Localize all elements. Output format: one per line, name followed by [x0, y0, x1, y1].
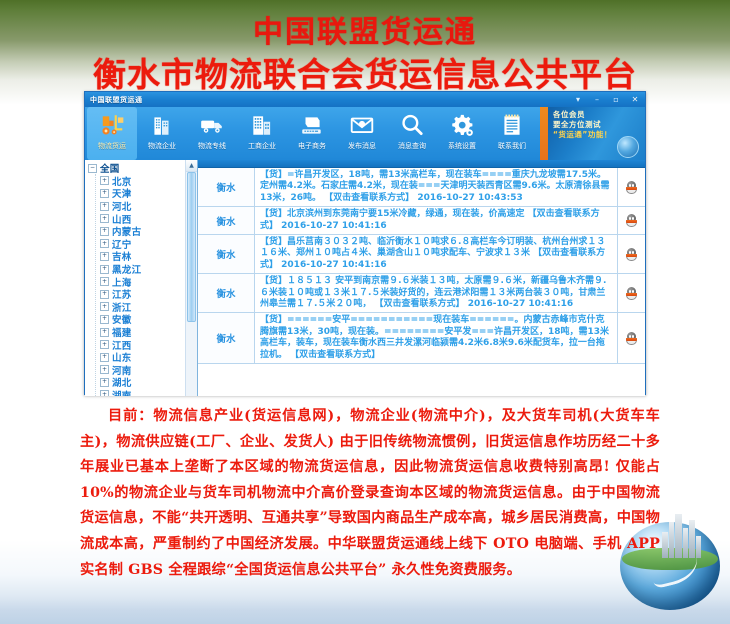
tree-node-内蒙古[interactable]: +内蒙古 — [88, 225, 197, 238]
table-row[interactable]: 衡水【货】北京滨州到东莞南宁要15米冷藏，绿通，现在装，价高速定 【双击查看联系… — [198, 207, 645, 235]
expand-icon[interactable]: + — [100, 189, 109, 198]
toolbar-item-2[interactable]: 物流企业 — [137, 107, 187, 160]
table-row[interactable]: 衡水【货】１８５１３ 安平到南京需９.６米装１３吨，太原需９.６米，新疆乌鲁木齐… — [198, 274, 645, 313]
toolbar-item-label: 工商企业 — [248, 141, 276, 151]
row-timestamp: 2016-10-27 10:41:16 — [281, 260, 386, 270]
globe-icon — [617, 136, 639, 158]
tree-node-江西[interactable]: +江西 — [88, 338, 197, 351]
document-icon — [499, 110, 525, 140]
search-icon — [399, 110, 425, 140]
advertisement-banner[interactable]: 各位会员 要全方位测试 “货运通”功能！ — [548, 107, 645, 160]
tree-node-安徽[interactable]: +安徽 — [88, 313, 197, 326]
row-timestamp: 2016-10-27 10:41:16 — [281, 221, 386, 231]
row-region-cell: 衡水 — [198, 274, 255, 312]
expand-icon[interactable]: + — [100, 378, 109, 387]
grid-header — [198, 160, 645, 168]
tree-node-河北[interactable]: +河北 — [88, 200, 197, 213]
toolbar-item-label: 消息查询 — [398, 141, 426, 151]
toolbar-item-4[interactable]: 工商企业 — [237, 107, 287, 160]
toolbar-divider — [540, 107, 548, 160]
tree-node-湖北[interactable]: +湖北 — [88, 376, 197, 389]
toolbar-item-8[interactable]: 系统设置 — [437, 107, 487, 160]
toolbar-item-9[interactable]: 联系我们 — [487, 107, 537, 160]
expand-icon[interactable]: + — [100, 390, 109, 396]
tree-node-浙江[interactable]: +浙江 — [88, 301, 197, 314]
table-row[interactable]: 衡水【货】=许昌开发区，18吨，需13米高栏车，现在装车====重庆九龙坡需17… — [198, 168, 645, 207]
row-region-cell: 衡水 — [198, 235, 255, 273]
row-contact-cell[interactable] — [618, 313, 645, 363]
application-window: 中国联盟货运通 ▾ – ▫ ✕ 物流货运物流企业物流专线工商企业电子商务发布消息… — [84, 91, 646, 395]
poster-title-line2: 衡水市物流联合会货运信息公共平台 — [0, 54, 730, 95]
row-region-cell: 衡水 — [198, 207, 255, 234]
region-tree: −全国+北京+天津+河北+山西+内蒙古+辽宁+吉林+黑龙江+上海+江苏+浙江+安… — [85, 160, 197, 396]
expand-icon[interactable]: + — [100, 265, 109, 274]
expand-icon[interactable]: + — [100, 302, 109, 311]
qq-icon[interactable] — [626, 287, 637, 300]
region-tree-panel: −全国+北京+天津+河北+山西+内蒙古+辽宁+吉林+黑龙江+上海+江苏+浙江+安… — [85, 160, 198, 396]
expand-icon[interactable]: + — [100, 202, 109, 211]
row-timestamp: 2016-10-27 10:41:16 — [468, 299, 573, 309]
row-message-cell[interactable]: 【货】昌乐莒南３０３２吨、临沂衡水１０吨求６.８高栏车今订明装、杭州台州求１３１… — [255, 235, 618, 273]
expand-icon[interactable]: + — [100, 252, 109, 261]
expand-icon[interactable]: + — [100, 365, 109, 374]
tree-node-黑龙江[interactable]: +黑龙江 — [88, 263, 197, 276]
window-titlebar: 中国联盟货运通 ▾ – ▫ ✕ — [85, 92, 645, 107]
expand-icon[interactable]: + — [100, 353, 109, 362]
tree-guide-line — [95, 174, 96, 396]
expand-icon[interactable]: + — [100, 227, 109, 236]
expand-icon[interactable]: + — [100, 328, 109, 337]
freight-list-panel: 衡水【货】=许昌开发区，18吨，需13米高栏车，现在装车====重庆九龙坡需17… — [198, 160, 645, 396]
toolbar-item-label: 物流企业 — [148, 141, 176, 151]
window-body: −全国+北京+天津+河北+山西+内蒙古+辽宁+吉林+黑龙江+上海+江苏+浙江+安… — [85, 160, 645, 396]
tree-node-湖南[interactable]: +湖南 — [88, 389, 197, 396]
toolbar-item-3[interactable]: 物流专线 — [187, 107, 237, 160]
toolbar-item-label: 发布消息 — [348, 141, 376, 151]
computer-icon — [299, 110, 325, 140]
row-message-cell[interactable]: 【货】北京滨州到东莞南宁要15米冷藏，绿通，现在装，价高速定 【双击查看联系方式… — [255, 207, 618, 234]
envelope-icon — [349, 110, 375, 140]
toolbar-item-label: 物流货运 — [98, 141, 126, 151]
close-button[interactable]: ✕ — [626, 93, 644, 106]
office-building-icon — [249, 110, 275, 140]
table-row[interactable]: 衡水【货】======安平===========现在装车======。内蒙古赤峰… — [198, 313, 645, 364]
tree-node-江苏[interactable]: +江苏 — [88, 288, 197, 301]
toolbar-item-label: 系统设置 — [448, 141, 476, 151]
tree-scrollbar[interactable]: ▲ — [185, 160, 197, 396]
main-toolbar: 物流货运物流企业物流专线工商企业电子商务发布消息消息查询系统设置联系我们 各位会… — [85, 107, 645, 160]
gear-icon — [449, 110, 475, 140]
row-contact-cell[interactable] — [618, 168, 645, 206]
tree-node-root[interactable]: −全国 — [88, 162, 197, 175]
qq-icon[interactable] — [626, 248, 637, 261]
tree-node-福建[interactable]: +福建 — [88, 326, 197, 339]
toolbar-item-label: 物流专线 — [198, 141, 226, 151]
building-icon — [149, 110, 175, 140]
tree-node-吉林[interactable]: +吉林 — [88, 250, 197, 263]
truck-icon — [199, 110, 225, 140]
row-contact-cell[interactable] — [618, 274, 645, 312]
tree-node-北京[interactable]: +北京 — [88, 175, 197, 188]
expand-icon[interactable]: + — [100, 290, 109, 299]
toolbar-item-5[interactable]: 电子商务 — [287, 107, 337, 160]
row-region-cell: 衡水 — [198, 313, 255, 363]
tree-node-上海[interactable]: +上海 — [88, 275, 197, 288]
dropdown-icon[interactable]: ▾ — [569, 93, 587, 106]
toolbar-item-6[interactable]: 发布消息 — [337, 107, 387, 160]
table-row[interactable]: 衡水【货】昌乐莒南３０３２吨、临沂衡水１０吨求６.８高栏车今订明装、杭州台州求１… — [198, 235, 645, 274]
row-message-cell[interactable]: 【货】=许昌开发区，18吨，需13米高栏车，现在装车====重庆九龙坡需17.5… — [255, 168, 618, 206]
ad-line-1: 各位会员 — [553, 110, 645, 120]
window-title: 中国联盟货运通 — [90, 95, 143, 105]
toolbar-item-1[interactable]: 物流货运 — [87, 107, 137, 160]
poster-paragraph: 目前：物流信息产业(货运信息网)，物流企业(物流中介)，及大货车司机(大货车车主… — [80, 404, 660, 583]
tree-node-label: 湖南 — [112, 388, 132, 396]
row-message-cell[interactable]: 【货】１８５１３ 安平到南京需９.６米装１３吨，太原需９.６米，新疆乌鲁木齐需９… — [255, 274, 618, 312]
forklift-icon — [99, 110, 126, 140]
qq-icon[interactable] — [626, 181, 637, 194]
tree-node-辽宁[interactable]: +辽宁 — [88, 238, 197, 251]
grid-rows: 衡水【货】=许昌开发区，18吨，需13米高栏车，现在装车====重庆九龙坡需17… — [198, 168, 645, 364]
window-controls: ▾ – ▫ ✕ — [569, 92, 645, 107]
expand-icon[interactable]: + — [100, 239, 109, 248]
qq-icon[interactable] — [626, 332, 637, 345]
ad-line-2: 要全方位测试 — [553, 120, 645, 130]
poster-header: 中国联盟货运通 衡水市物流联合会货运信息公共平台 — [0, 14, 730, 95]
row-contact-cell[interactable] — [618, 235, 645, 273]
tree-node-山西[interactable]: +山西 — [88, 212, 197, 225]
expand-icon[interactable]: + — [100, 277, 109, 286]
scroll-up-icon[interactable]: ▲ — [186, 160, 197, 172]
toolbar-item-label: 电子商务 — [298, 141, 326, 151]
toolbar-items: 物流货运物流企业物流专线工商企业电子商务发布消息消息查询系统设置联系我们 — [85, 107, 537, 160]
tree-node-天津[interactable]: +天津 — [88, 187, 197, 200]
row-region-cell: 衡水 — [198, 168, 255, 206]
minimize-button[interactable]: – — [588, 93, 606, 106]
toolbar-item-label: 联系我们 — [498, 141, 526, 151]
maximize-button[interactable]: ▫ — [607, 93, 625, 106]
expand-icon[interactable]: + — [100, 315, 109, 324]
poster-title-line1: 中国联盟货运通 — [0, 14, 730, 52]
row-timestamp: 2016-10-27 10:43:53 — [417, 193, 522, 203]
toolbar-item-7[interactable]: 消息查询 — [387, 107, 437, 160]
tree-node-河南[interactable]: +河南 — [88, 364, 197, 377]
row-message-text: 【货】======安平===========现在装车======。内蒙古赤峰市克… — [260, 315, 609, 359]
qq-icon[interactable] — [626, 214, 637, 227]
row-message-cell[interactable]: 【货】======安平===========现在装车======。内蒙古赤峰市克… — [255, 313, 618, 363]
scrollbar-thumb[interactable] — [187, 172, 196, 322]
expand-icon[interactable]: + — [100, 214, 109, 223]
tree-node-山东[interactable]: +山东 — [88, 351, 197, 364]
collapse-icon[interactable]: − — [88, 164, 97, 173]
expand-icon[interactable]: + — [100, 176, 109, 185]
row-contact-cell[interactable] — [618, 207, 645, 234]
expand-icon[interactable]: + — [100, 340, 109, 349]
